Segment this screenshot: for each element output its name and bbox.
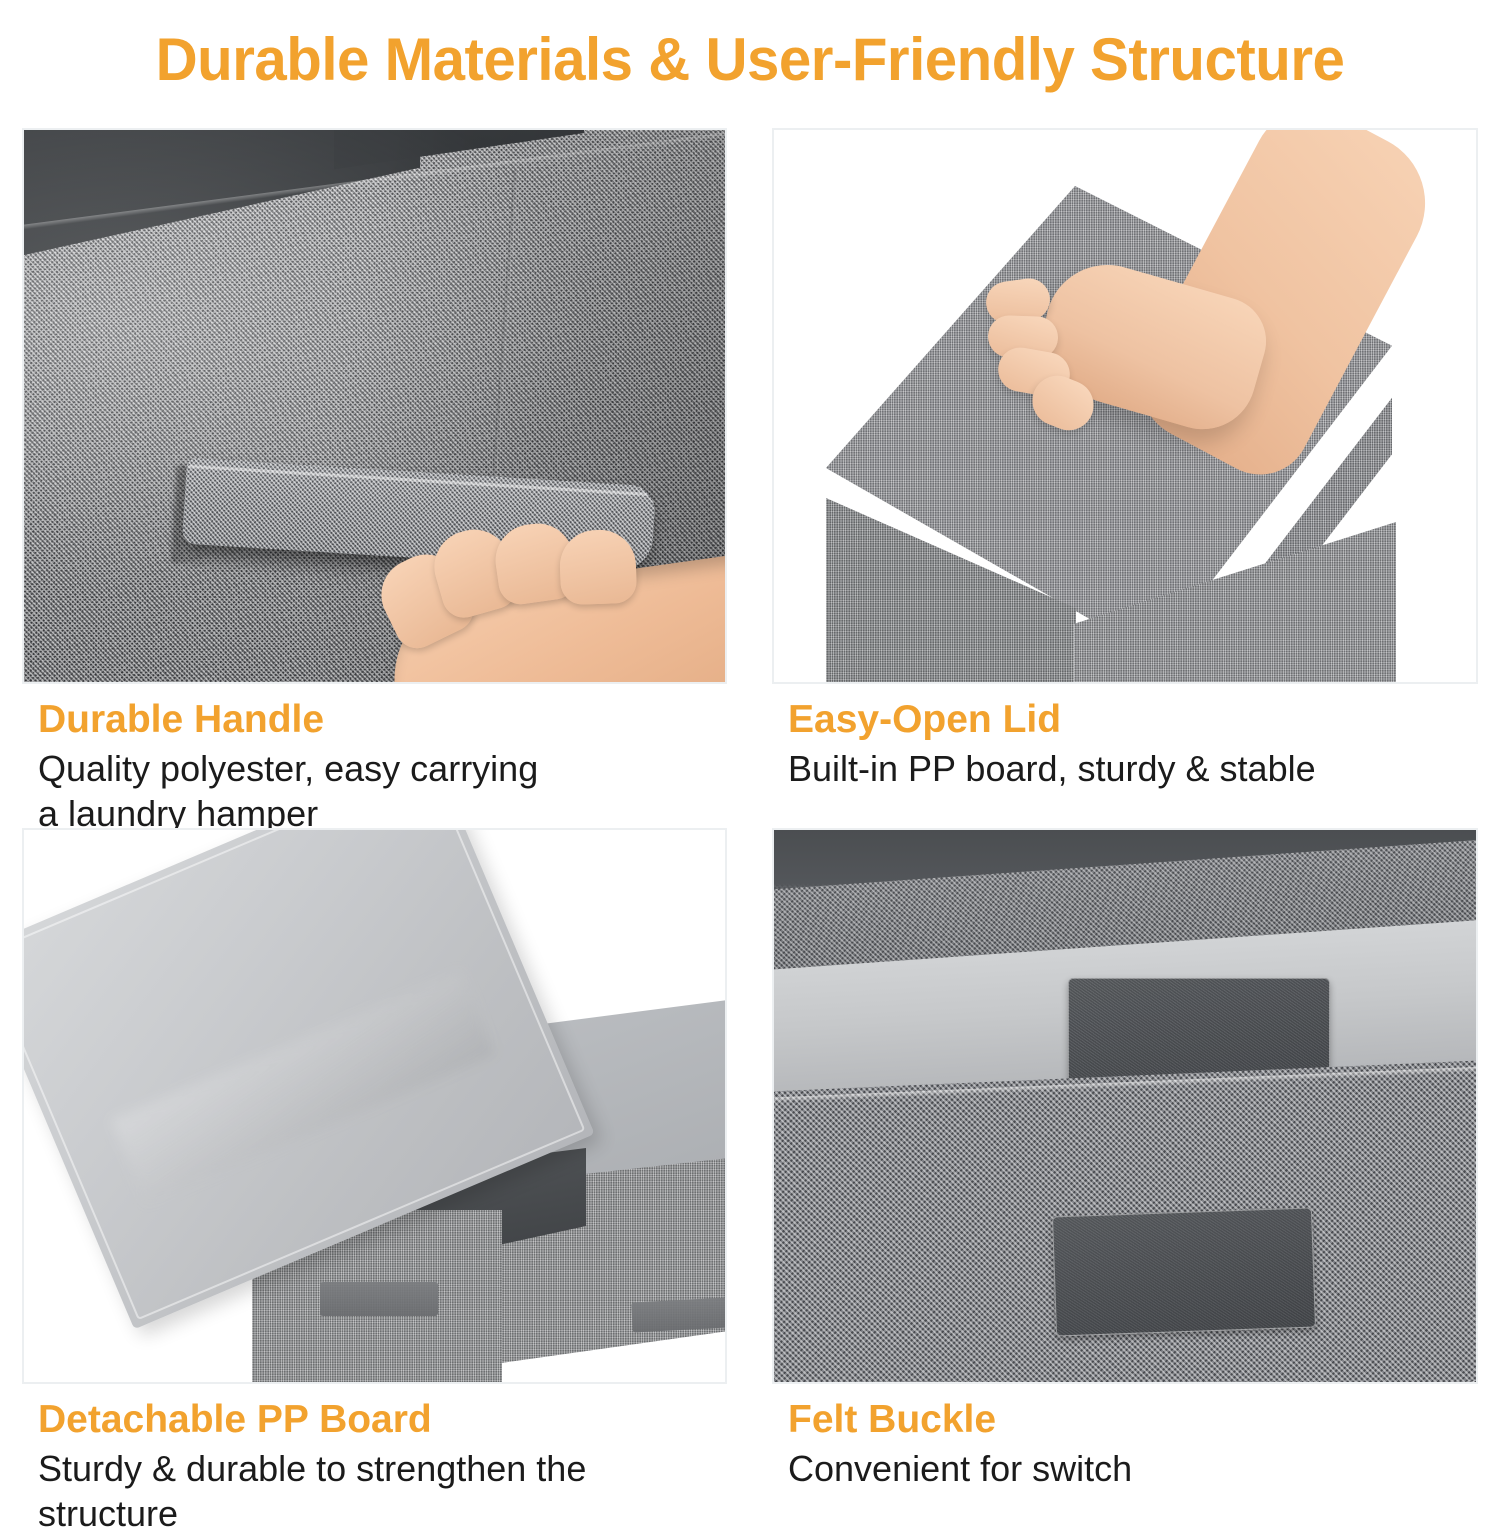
page-title: Durable Materials & User-Friendly Struct…	[23, 26, 1478, 94]
feature-card-easy-open-lid: Easy-Open Lid Built-in PP board, sturdy …	[772, 128, 1478, 791]
feature-caption-easy-open-lid: Easy-Open Lid Built-in PP board, sturdy …	[772, 684, 1478, 791]
feature-caption-felt-buckle: Felt Buckle Convenient for switch	[772, 1384, 1478, 1491]
felt-buckle-patch-side	[631, 1298, 727, 1333]
feature-caption-detachable-pp-board: Detachable PP Board Sturdy & durable to …	[22, 1384, 727, 1536]
hand-gripping-handle	[374, 520, 727, 684]
feature-caption-durable-handle: Durable Handle Quality polyester, easy c…	[22, 684, 727, 836]
finger-little	[559, 529, 638, 606]
feature-photo-detachable-pp-board	[22, 828, 727, 1384]
feature-photo-easy-open-lid	[772, 128, 1478, 684]
feature-photo-felt-buckle	[772, 828, 1478, 1384]
felt-buckle-patch-front	[320, 1282, 438, 1316]
feature-description: Built-in PP board, sturdy & stable	[788, 744, 1478, 791]
feature-title: Easy-Open Lid	[788, 696, 1478, 744]
feature-title: Detachable PP Board	[38, 1396, 727, 1444]
feature-card-felt-buckle: Felt Buckle Convenient for switch	[772, 828, 1478, 1491]
feature-card-detachable-pp-board: Detachable PP Board Sturdy & durable to …	[22, 828, 727, 1536]
feature-description: Sturdy & durable to strengthen the struc…	[38, 1444, 727, 1536]
feature-photo-durable-handle	[22, 128, 727, 684]
feature-description: Quality polyester, easy carrying a laund…	[38, 744, 727, 836]
feature-card-durable-handle: Durable Handle Quality polyester, easy c…	[22, 128, 727, 836]
feature-title: Felt Buckle	[788, 1396, 1478, 1444]
feature-title: Durable Handle	[38, 696, 727, 744]
felt-buckle-patch-body	[1052, 1207, 1316, 1336]
infographic-page: Durable Materials & User-Friendly Struct…	[0, 0, 1500, 1500]
feature-description: Convenient for switch	[788, 1444, 1478, 1491]
